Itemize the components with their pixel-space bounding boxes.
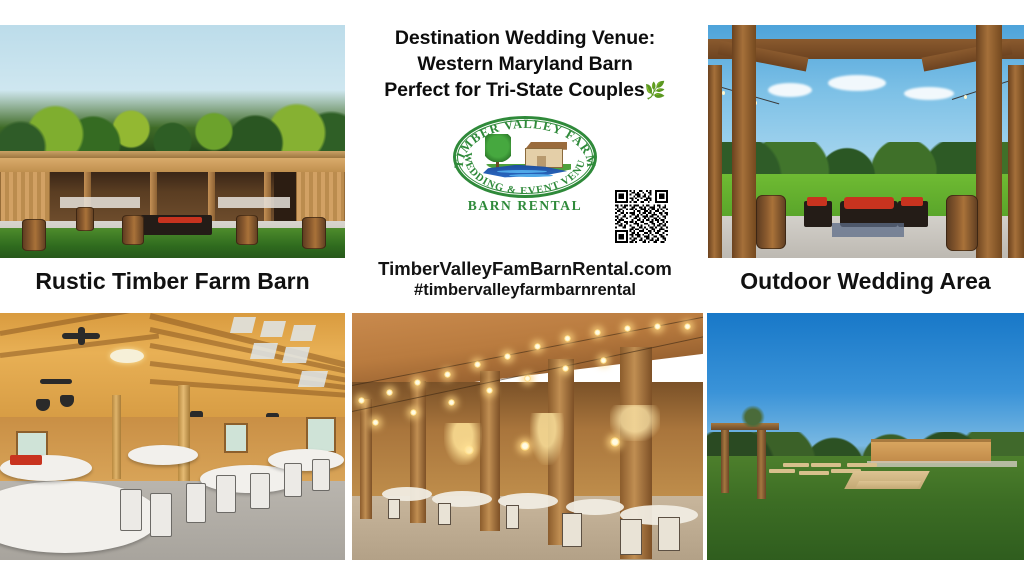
- outdoor-rug: [832, 223, 904, 237]
- website-url[interactable]: TimberValleyFamBarnRental.com: [347, 258, 703, 280]
- venue-logo: TIMBER VALLEY FARM WEDDING & EVENT VENUE…: [445, 114, 605, 219]
- round-table: [268, 449, 344, 471]
- bench: [847, 463, 877, 467]
- barn-open-bays: [0, 172, 345, 221]
- timber-post: [208, 172, 215, 221]
- folding-chair: [388, 499, 400, 519]
- water-wave: [509, 174, 553, 177]
- light-bulb: [654, 323, 661, 330]
- timber-post: [410, 381, 426, 523]
- wine-barrel: [22, 219, 46, 251]
- center-text-column: Destination Wedding Venue: Western Maryl…: [347, 0, 703, 313]
- skylight-panel: [298, 371, 328, 387]
- logo-subtitle: BARN RENTAL: [445, 198, 605, 214]
- folding-chair: [562, 513, 582, 547]
- ceiling-fan: [40, 379, 72, 384]
- timber-post: [150, 172, 157, 221]
- ceremony-field-scene: [707, 313, 1024, 560]
- barn-exterior-scene: [0, 25, 345, 258]
- evening-pavilion-scene: [352, 313, 703, 560]
- tree-icon: [485, 134, 511, 162]
- red-cushion: [807, 197, 827, 206]
- contact-block: TimberValleyFamBarnRental.com #timberval…: [347, 258, 703, 300]
- light-bulb: [414, 379, 421, 386]
- wine-barrel: [122, 215, 144, 245]
- headline-line-1: Destination Wedding Venue:: [384, 26, 666, 52]
- folding-chair: [438, 503, 451, 525]
- ceiling-fan-motor: [78, 327, 85, 345]
- light-bulb: [684, 323, 691, 330]
- light-bulb: [534, 343, 541, 350]
- skylight-panel: [260, 321, 286, 337]
- light-bulb: [594, 329, 601, 336]
- wine-barrel: [236, 215, 258, 245]
- photo-barn-interior: [0, 313, 345, 560]
- light-bulb: [410, 409, 417, 416]
- light-bulb: [474, 361, 481, 368]
- folding-chair: [506, 505, 519, 529]
- photo-barn-exterior: [0, 25, 345, 258]
- barn-door-left: [0, 172, 50, 221]
- skylight-panel: [230, 317, 256, 333]
- headline-line-3: Perfect for Tri-State Couples: [384, 79, 644, 101]
- skylight-panel: [250, 343, 278, 359]
- qr-code-matrix: [615, 190, 668, 243]
- light-bulb: [600, 357, 607, 364]
- folding-chair: [250, 473, 270, 509]
- arbor-post-right: [757, 427, 766, 499]
- light-bulb: [564, 335, 571, 342]
- photo-outdoor-lounge: [708, 25, 1024, 258]
- timber-post: [1008, 65, 1024, 258]
- hashtag: #timbervalleyfarmbarnrental: [347, 280, 703, 300]
- folding-chair: [186, 483, 206, 523]
- folding-chair: [284, 463, 302, 497]
- barn-roofline: [0, 151, 345, 158]
- light-bulb: [386, 389, 393, 396]
- wine-barrel: [946, 195, 978, 251]
- window: [16, 431, 48, 457]
- wine-barrel: [302, 217, 326, 249]
- light-bulb: [524, 375, 531, 382]
- wine-barrel: [76, 207, 94, 231]
- light-bulb: [722, 91, 725, 95]
- qr-code[interactable]: [615, 190, 668, 243]
- light-bulb: [486, 387, 493, 394]
- banquet-tables: [218, 197, 290, 208]
- gravel-drive: [867, 461, 1017, 467]
- caption-outdoor-wedding-area: Outdoor Wedding Area: [707, 268, 1024, 295]
- skylight-panel: [290, 325, 316, 341]
- timber-post: [732, 25, 756, 258]
- timber-post: [480, 371, 500, 531]
- headline-line-3-wrap: Perfect for Tri-State Couples🌿: [384, 78, 666, 104]
- barn-door: [537, 156, 546, 168]
- folding-chair: [120, 489, 142, 531]
- caption-rustic-timber-farm-barn: Rustic Timber Farm Barn: [0, 268, 345, 295]
- folding-chair: [312, 459, 330, 491]
- cloud: [828, 75, 886, 91]
- wine-barrel: [756, 195, 786, 249]
- window: [306, 417, 336, 453]
- barn-door-right: [296, 172, 345, 221]
- headline: Destination Wedding Venue: Western Maryl…: [384, 26, 666, 104]
- red-cushion: [901, 197, 923, 206]
- bench: [799, 471, 829, 475]
- bench: [811, 463, 841, 467]
- bench: [769, 469, 795, 473]
- light-bulb: [562, 365, 569, 372]
- water-wave: [497, 170, 547, 173]
- fairy-light-drape: [444, 423, 482, 465]
- timber-post: [976, 25, 1002, 258]
- skylight-panel: [282, 347, 310, 363]
- venue-collage: Destination Wedding Venue: Western Maryl…: [0, 0, 1024, 577]
- red-cushion: [10, 455, 42, 465]
- fairy-light-drape: [610, 405, 660, 441]
- fairy-light-drape: [530, 413, 564, 465]
- timber-post: [360, 399, 372, 519]
- light-bulb: [358, 397, 365, 404]
- herb-leaf-icon: 🌿: [645, 81, 666, 100]
- outdoor-lounge-scene: [708, 25, 1024, 258]
- tree-icon: [741, 405, 765, 427]
- pendant-light: [520, 441, 530, 451]
- red-cushion: [158, 217, 202, 223]
- bench: [783, 463, 809, 467]
- barn-interior-scene: [0, 313, 345, 560]
- light-bulb: [504, 353, 511, 360]
- cloud: [768, 83, 812, 97]
- barn-building: [871, 439, 991, 463]
- folding-chair: [658, 517, 680, 551]
- folding-chair: [216, 475, 236, 513]
- arbor-post-left: [721, 427, 729, 493]
- wood-platform-step: [855, 481, 921, 489]
- window: [224, 423, 248, 453]
- headline-line-2: Western Maryland Barn: [384, 52, 666, 78]
- light-bulb: [964, 95, 967, 99]
- folding-chair: [620, 519, 642, 555]
- cloud: [904, 87, 954, 100]
- round-table: [128, 445, 198, 465]
- light-bulb: [448, 399, 455, 406]
- light-bulb: [444, 371, 451, 378]
- banquet-tables: [60, 197, 140, 208]
- timber-post: [112, 395, 121, 479]
- folding-chair: [150, 493, 172, 537]
- barn-facade: [0, 158, 345, 172]
- timber-post: [708, 65, 722, 258]
- logo-scene: [479, 134, 571, 180]
- tree-line: [0, 90, 345, 153]
- timber-post: [178, 385, 190, 481]
- light-bulb: [372, 419, 379, 426]
- photo-ceremony-field: [707, 313, 1024, 560]
- light-bulb: [624, 325, 631, 332]
- red-cushion: [844, 197, 894, 209]
- pendant-light: [110, 349, 144, 363]
- photo-evening-pavilion: [352, 313, 703, 560]
